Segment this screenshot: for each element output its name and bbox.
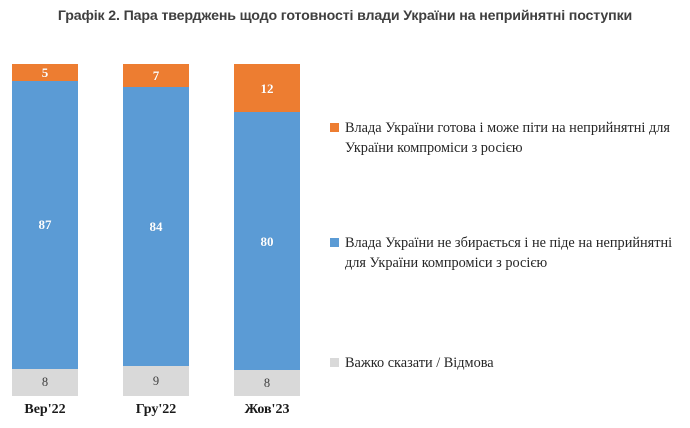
bar-stack: 12 80 8 (234, 64, 300, 396)
legend-marker-orange-icon (330, 123, 339, 132)
bar-segment-gray[interactable]: 9 (123, 366, 189, 396)
legend-marker-gray-icon (330, 358, 339, 367)
bar-segment-orange[interactable]: 7 (123, 64, 189, 87)
bar-segment-blue[interactable]: 84 (123, 87, 189, 366)
legend-item-hard-to-say[interactable]: Важко сказати / Відмова (326, 353, 494, 373)
bar-segment-orange[interactable]: 12 (234, 64, 300, 112)
bar-segment-value: 7 (153, 69, 160, 82)
bar-segment-value: 5 (42, 66, 49, 79)
bar-stack: 5 87 8 (12, 64, 78, 396)
legend-item-label: Важко сказати / Відмова (345, 353, 494, 373)
page-title: Графік 2. Пара тверджень щодо готовності… (0, 8, 690, 24)
bar-column-zhov23: 12 80 8 Жов'23 (234, 50, 300, 428)
category-label-gru22: Гру'22 (111, 402, 201, 418)
bar-segment-value: 9 (153, 375, 159, 388)
bar-segment-orange[interactable]: 5 (12, 64, 78, 81)
category-label-ver22: Вер'22 (0, 402, 90, 418)
bar-segment-value: 84 (150, 220, 163, 233)
bar-segment-value: 80 (261, 235, 274, 248)
legend-item-not-going-to-compromise[interactable]: Влада України не збирається і не піде на… (326, 233, 681, 273)
legend-item-label: Влада України не збирається і не піде на… (345, 233, 681, 273)
bar-segment-blue[interactable]: 80 (234, 112, 300, 370)
bar-segment-value: 8 (264, 377, 270, 390)
bar-segment-value: 8 (42, 376, 48, 389)
category-label-zhov23: Жов'23 (222, 402, 312, 418)
legend-marker-blue-icon (330, 238, 339, 247)
bar-segment-gray[interactable]: 8 (234, 370, 300, 396)
legend-item-ready-for-compromise[interactable]: Влада України готова і може піти на непр… (326, 118, 681, 158)
bar-column-ver22: 5 87 8 Вер'22 (12, 50, 78, 428)
chart-plot-area: 5 87 8 Вер'22 7 84 9 Гру'22 (0, 50, 320, 428)
bar-segment-gray[interactable]: 8 (12, 369, 78, 396)
chart-legend: Влада України готова і може піти на непр… (326, 50, 690, 428)
bar-segment-value: 12 (261, 82, 274, 95)
legend-item-label: Влада України готова і може піти на непр… (345, 118, 681, 158)
bar-segment-value: 87 (39, 218, 52, 231)
bar-segment-blue[interactable]: 87 (12, 81, 78, 370)
bar-column-gru22: 7 84 9 Гру'22 (123, 50, 189, 428)
bar-stack: 7 84 9 (123, 64, 189, 396)
